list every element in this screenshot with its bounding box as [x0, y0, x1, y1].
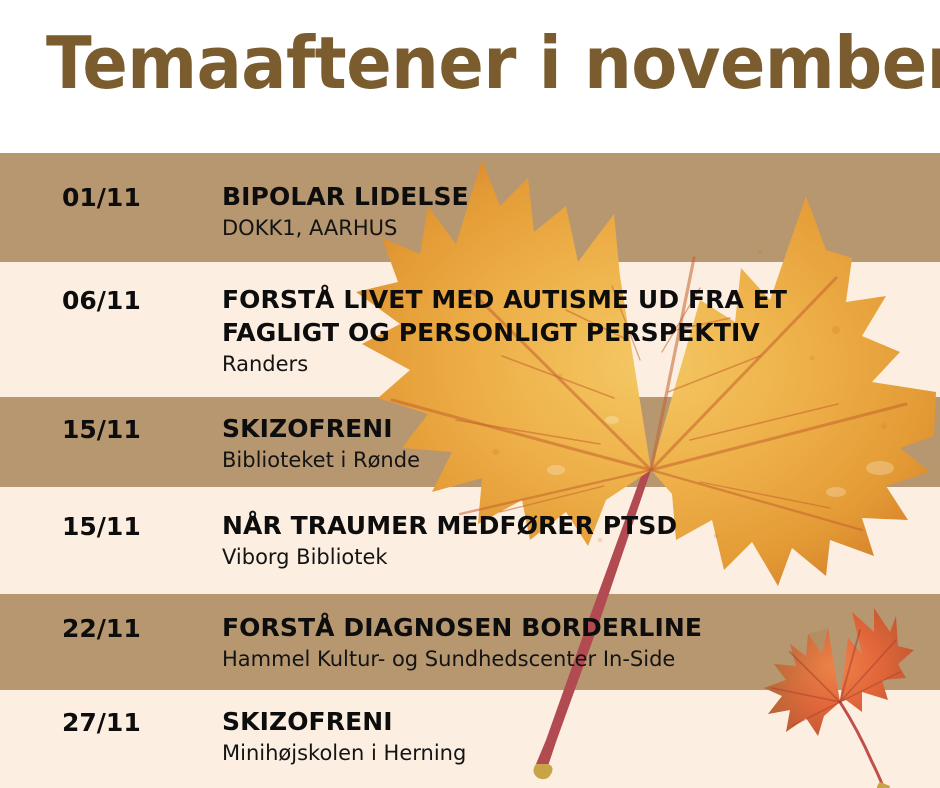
row-venue: Biblioteket i Rønde: [222, 447, 930, 474]
row-title: FORSTÅ LIVET MED AUTISME UD FRA ET FAGLI…: [222, 283, 930, 349]
row-date: 27/11: [62, 708, 141, 737]
row-date: 15/11: [62, 415, 141, 444]
row-date: 22/11: [62, 614, 141, 643]
schedule-row: 15/11 NÅR TRAUMER MEDFØRER PTSD Viborg B…: [0, 487, 940, 594]
row-title: FORSTÅ DIAGNOSEN BORDERLINE: [222, 611, 930, 644]
row-body: SKIZOFRENI Minihøjskolen i Herning: [222, 705, 930, 767]
row-venue: Randers: [222, 351, 930, 378]
row-venue: DOKK1, AARHUS: [222, 215, 930, 242]
row-body: FORSTÅ LIVET MED AUTISME UD FRA ET FAGLI…: [222, 283, 930, 378]
schedule-row: 27/11 SKIZOFRENI Minihøjskolen i Herning: [0, 690, 940, 788]
row-title: SKIZOFRENI: [222, 412, 930, 445]
row-title: BIPOLAR LIDELSE: [222, 180, 930, 213]
row-title: SKIZOFRENI: [222, 705, 930, 738]
row-title: NÅR TRAUMER MEDFØRER PTSD: [222, 509, 930, 542]
row-date: 01/11: [62, 183, 141, 212]
row-date: 15/11: [62, 512, 141, 541]
row-venue: Minihøjskolen i Herning: [222, 740, 930, 767]
row-body: BIPOLAR LIDELSE DOKK1, AARHUS: [222, 180, 930, 242]
event-poster: 01/11 BIPOLAR LIDELSE DOKK1, AARHUS 06/1…: [0, 0, 940, 788]
row-body: FORSTÅ DIAGNOSEN BORDERLINE Hammel Kultu…: [222, 611, 930, 673]
schedule-row: 06/11 FORSTÅ LIVET MED AUTISME UD FRA ET…: [0, 262, 940, 397]
row-venue: Hammel Kultur- og Sundhedscenter In-Side: [222, 646, 930, 673]
schedule-row: 01/11 BIPOLAR LIDELSE DOKK1, AARHUS: [0, 153, 940, 262]
row-body: SKIZOFRENI Biblioteket i Rønde: [222, 412, 930, 474]
row-body: NÅR TRAUMER MEDFØRER PTSD Viborg Bibliot…: [222, 509, 930, 571]
row-venue: Viborg Bibliotek: [222, 544, 930, 571]
page-title: Temaaftener i november: [46, 26, 940, 102]
schedule-row: 22/11 FORSTÅ DIAGNOSEN BORDERLINE Hammel…: [0, 594, 940, 690]
title-bar: Temaaftener i november: [0, 0, 940, 153]
row-date: 06/11: [62, 286, 141, 315]
schedule-row: 15/11 SKIZOFRENI Biblioteket i Rønde: [0, 397, 940, 487]
